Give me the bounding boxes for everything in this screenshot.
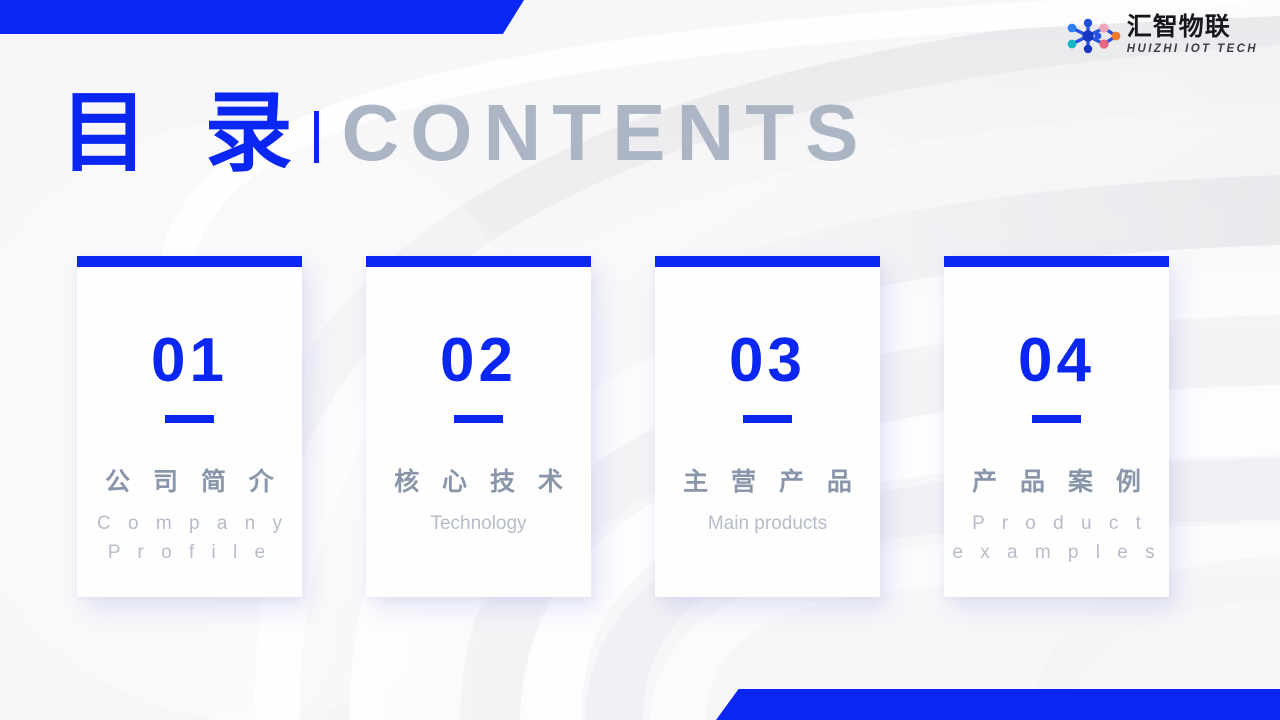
- card-top-accent-bar: [655, 256, 880, 267]
- card-title-english: C o m p a n yP r o f i l e: [85, 510, 294, 568]
- card-title-english: Technology: [424, 510, 532, 539]
- card-number: 03: [729, 330, 806, 392]
- card-number-underline: [454, 415, 503, 423]
- page-title-chinese: 目 录: [60, 89, 308, 177]
- ribbon-bottom-right: [716, 689, 1280, 720]
- card-number-underline: [165, 415, 214, 423]
- card-number-underline: [743, 415, 792, 423]
- card-top-accent-bar: [366, 256, 591, 267]
- card-number: 04: [1018, 330, 1095, 392]
- brand-logo: 汇智物联 HUIZHI IOT TECH: [1064, 14, 1258, 57]
- card-title-chinese: 核 心 技 术: [386, 470, 571, 495]
- contents-card-02[interactable]: 02 核 心 技 术 Technology: [366, 256, 591, 597]
- slide-canvas: 汇智物联 HUIZHI IOT TECH 目 录 CONTENTS 01 公 司…: [0, 0, 1280, 720]
- card-number-underline: [1032, 415, 1081, 423]
- logo-wordmark: 汇智物联 HUIZHI IOT TECH: [1127, 14, 1258, 57]
- card-title-chinese: 主 营 产 品: [675, 470, 860, 495]
- ribbon-top-left: [0, 0, 524, 34]
- contents-card-01[interactable]: 01 公 司 简 介 C o m p a n yP r o f i l e: [77, 256, 302, 597]
- page-title-english: CONTENTS: [341, 93, 869, 173]
- card-title-english: P r o d u c te x a m p l e s: [946, 510, 1166, 568]
- contents-card-list: 01 公 司 简 介 C o m p a n yP r o f i l e 02…: [77, 256, 1172, 597]
- card-top-accent-bar: [944, 256, 1169, 267]
- logo-english-name: HUIZHI IOT TECH: [1127, 42, 1258, 57]
- card-title-chinese: 公 司 简 介: [97, 470, 282, 495]
- card-title-english: Main products: [702, 510, 833, 539]
- molecule-network-icon: [1064, 16, 1122, 56]
- contents-card-04[interactable]: 04 产 品 案 例 P r o d u c te x a m p l e s: [944, 256, 1169, 597]
- card-title-chinese: 产 品 案 例: [964, 470, 1149, 495]
- card-top-accent-bar: [77, 256, 302, 267]
- title-divider-bar: [314, 111, 319, 163]
- page-title: 目 录 CONTENTS: [60, 78, 869, 188]
- contents-card-03[interactable]: 03 主 营 产 品 Main products: [655, 256, 880, 597]
- logo-chinese-name: 汇智物联: [1127, 14, 1258, 40]
- card-number: 01: [151, 330, 228, 392]
- card-number: 02: [440, 330, 517, 392]
